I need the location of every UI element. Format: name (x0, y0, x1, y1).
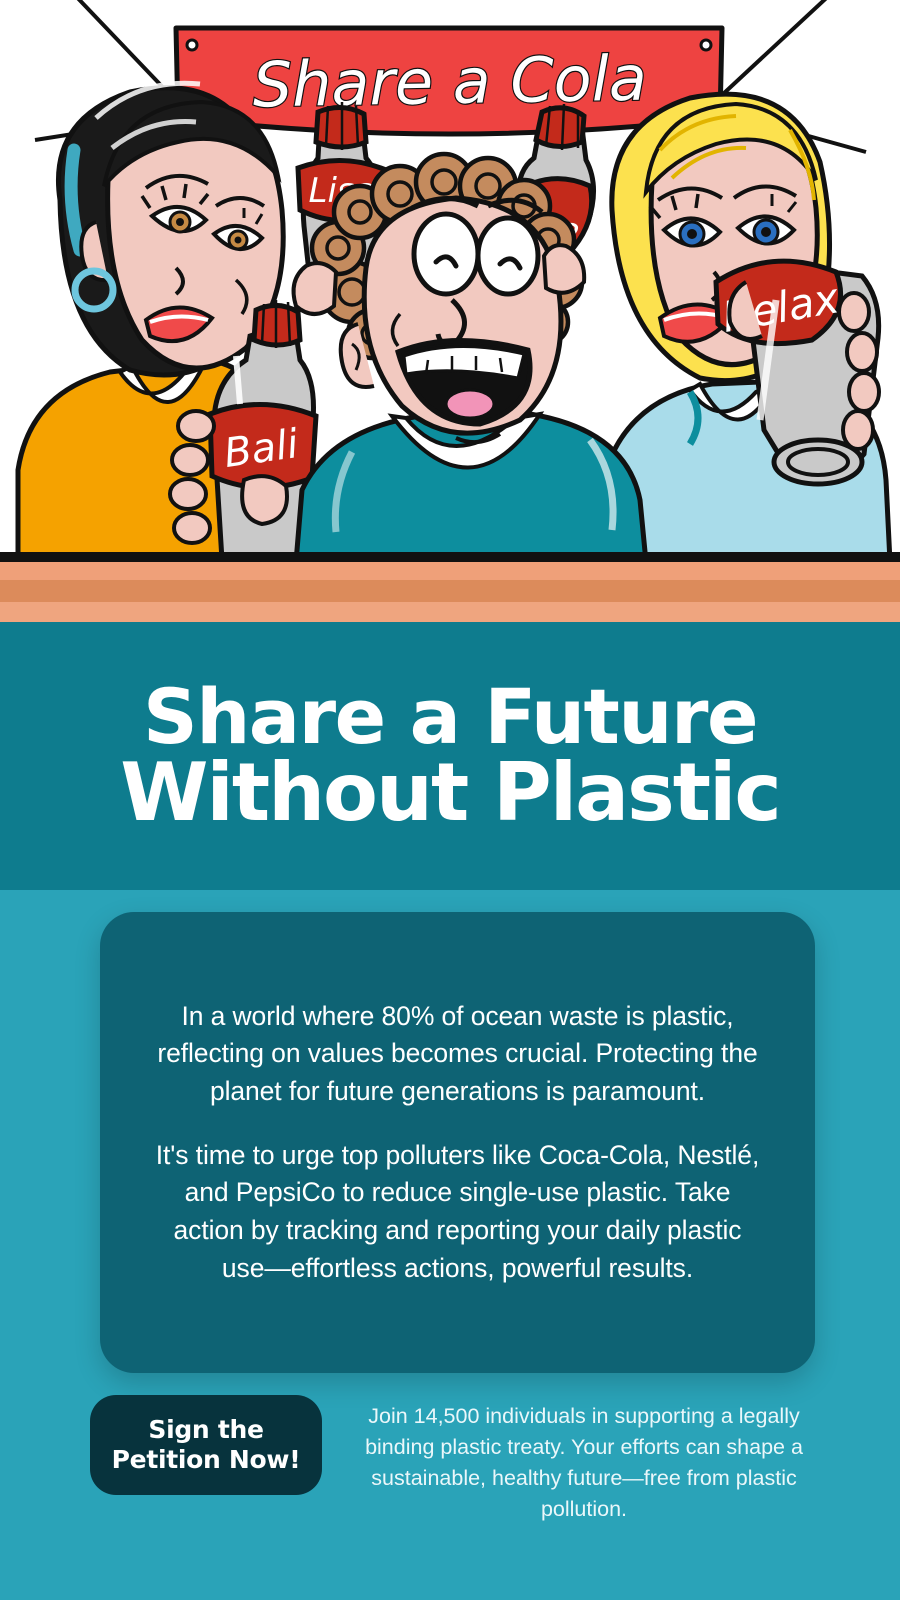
poster-root: Share a Cola (0, 0, 900, 1600)
banner-title: Share a Cola (252, 42, 647, 122)
decorative-divider (0, 562, 900, 622)
footer-row: Sign the Petition Now! Join 14,500 indiv… (0, 1395, 900, 1525)
divider-band-mid (0, 580, 900, 602)
banner: Share a Cola (176, 28, 722, 134)
body-paragraph-1: In a world where 80% of ocean waste is p… (154, 998, 761, 1111)
footer-note: Join 14,500 individuals in supporting a … (358, 1395, 810, 1525)
content-section: In a world where 80% of ocean waste is p… (0, 890, 900, 1600)
cta-line-2: Petition Now! (112, 1445, 301, 1475)
body-copy-card: In a world where 80% of ocean waste is p… (100, 912, 815, 1373)
body-paragraph-2: It's time to urge top polluters like Coc… (154, 1137, 761, 1288)
page-title: Share a Future Without Plastic (70, 680, 830, 833)
headline-section: Share a Future Without Plastic (0, 622, 900, 890)
sign-petition-button[interactable]: Sign the Petition Now! (90, 1395, 322, 1495)
divider-band-top (0, 562, 900, 580)
headline-line-1: Share a Future (70, 680, 830, 754)
headline-line-2: Without Plastic (70, 754, 830, 832)
hero-illustration: Share a Cola (0, 0, 900, 562)
divider-band-bottom (0, 602, 900, 622)
cta-line-1: Sign the (148, 1415, 263, 1445)
